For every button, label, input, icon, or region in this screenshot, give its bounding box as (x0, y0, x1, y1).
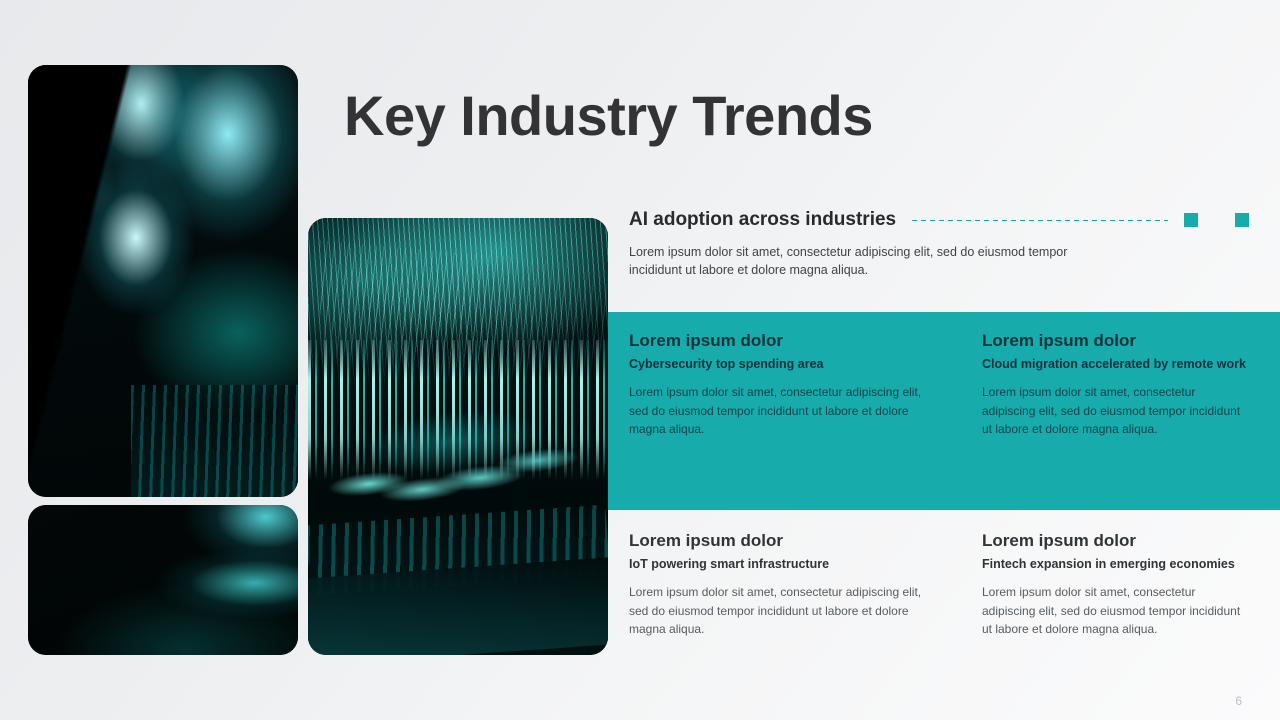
content-cell-cybersecurity: Lorem ipsum dolor Cybersecurity top spen… (629, 330, 929, 438)
cell-subtitle: IoT powering smart infrastructure (629, 555, 929, 573)
page-number: 6 (1235, 694, 1242, 708)
intro-heading-row: AI adoption across industries (629, 209, 1249, 231)
accent-square-icon-2 (1235, 213, 1249, 227)
photo-hands-typing-glowing-data-tall (28, 65, 298, 497)
photo-artwork (308, 218, 608, 655)
cell-body-text: Lorem ipsum dolor sit amet, consectetur … (982, 383, 1250, 438)
cell-body-text: Lorem ipsum dolor sit amet, consectetur … (982, 583, 1250, 638)
cell-title: Lorem ipsum dolor (629, 530, 929, 551)
cell-title: Lorem ipsum dolor (982, 330, 1250, 351)
intro-body-text: Lorem ipsum dolor sit amet, consectetur … (629, 243, 1111, 279)
slide-root: Key Industry Trends AI adoption across i… (0, 0, 1280, 720)
intro-heading: AI adoption across industries (629, 209, 896, 231)
photo-dark-diagonal (28, 65, 285, 497)
cell-body-text: Lorem ipsum dolor sit amet, consectetur … (629, 583, 929, 638)
content-cell-iot: Lorem ipsum dolor IoT powering smart inf… (629, 530, 929, 638)
page-title: Key Industry Trends (344, 86, 873, 146)
accent-square-icon-1 (1184, 213, 1198, 227)
content-cell-fintech: Lorem ipsum dolor Fintech expansion in e… (982, 530, 1250, 638)
intro-block: AI adoption across industries Lorem ipsu… (629, 209, 1249, 279)
cell-subtitle: Cloud migration accelerated by remote wo… (982, 355, 1250, 373)
cell-title: Lorem ipsum dolor (629, 330, 929, 351)
photo-dark-laptop-edge-strip (28, 505, 298, 655)
cell-body-text: Lorem ipsum dolor sit amet, consectetur … (629, 383, 929, 438)
photo-artwork (28, 505, 298, 655)
photo-artwork (28, 65, 298, 497)
cell-subtitle: Fintech expansion in emerging economies (982, 555, 1250, 573)
cell-subtitle: Cybersecurity top spending area (629, 355, 929, 373)
cell-title: Lorem ipsum dolor (982, 530, 1250, 551)
photo-hands-keyboard-data-waveform (308, 218, 608, 655)
dashed-rule-divider (912, 220, 1168, 221)
content-cell-cloud-migration: Lorem ipsum dolor Cloud migration accele… (982, 330, 1250, 438)
